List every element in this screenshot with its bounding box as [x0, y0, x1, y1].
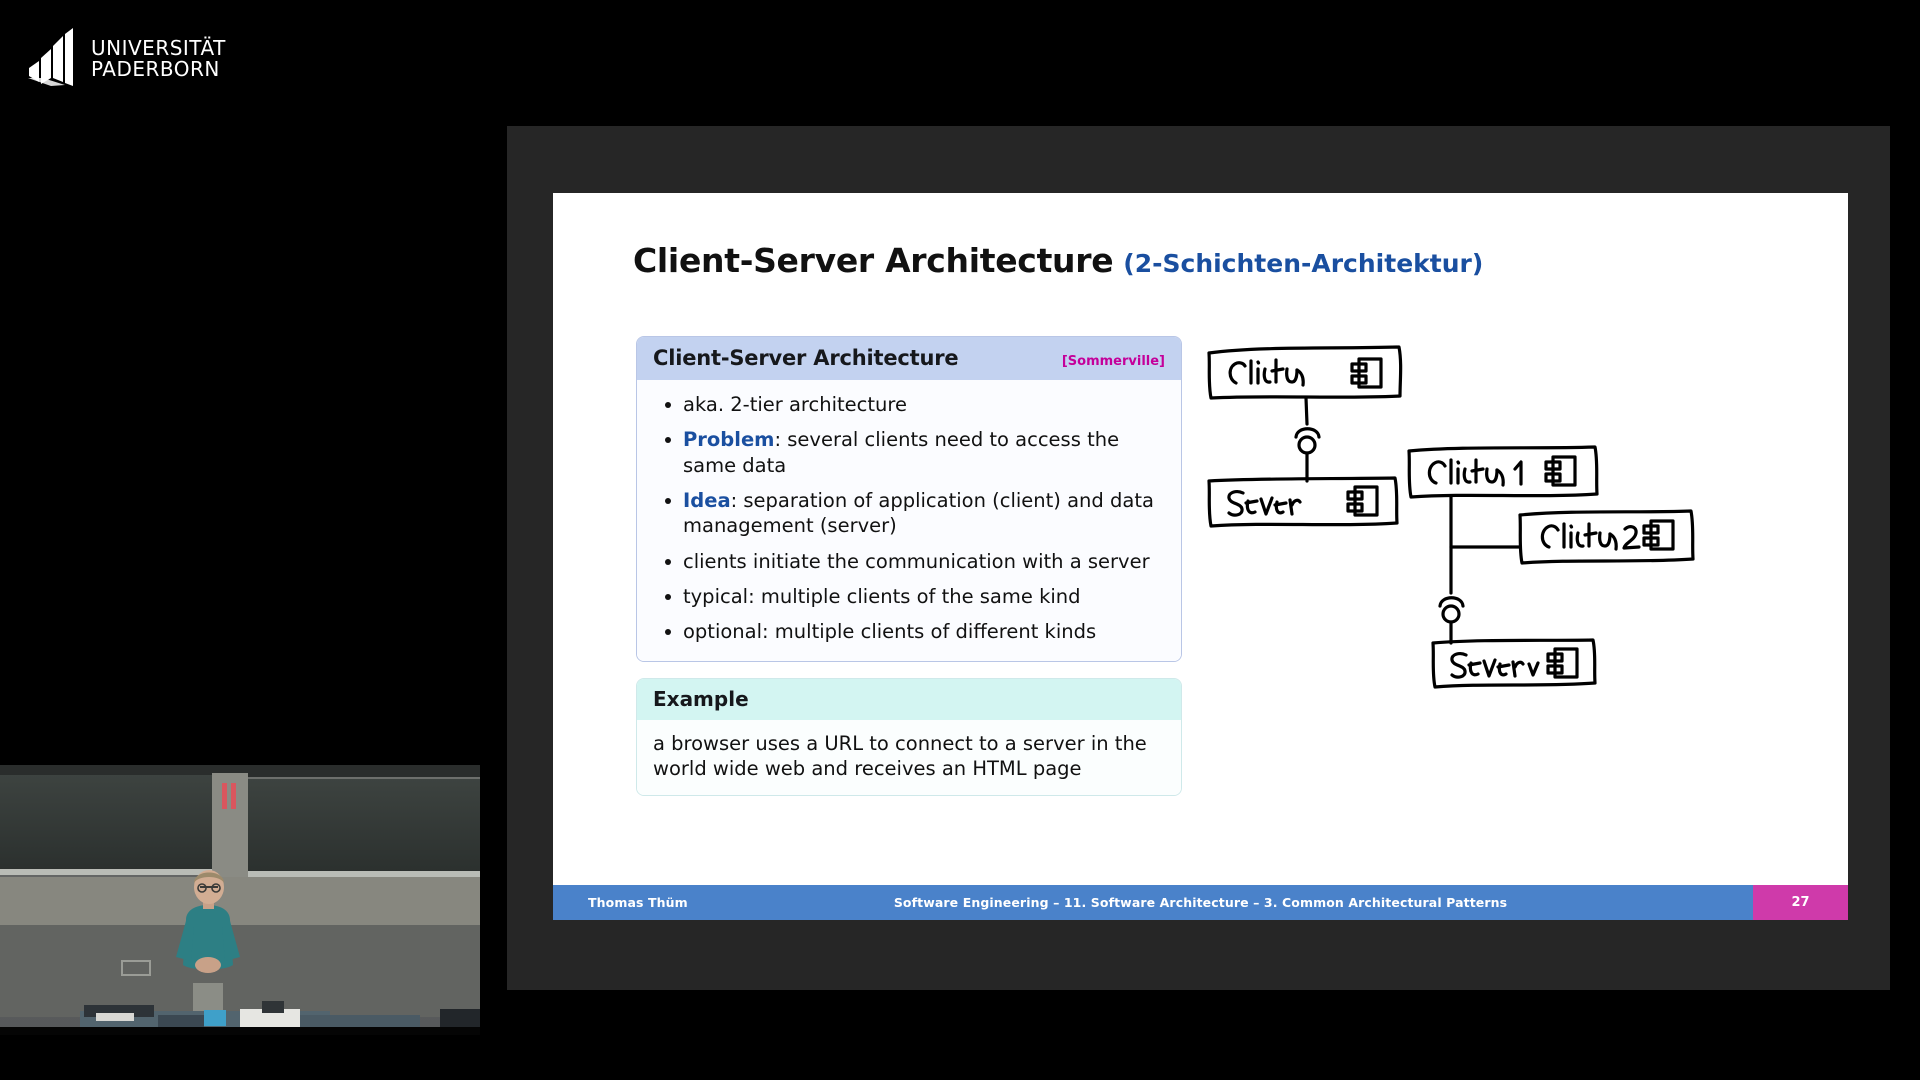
slide-left-column: Client-Server Architecture [Sommerville]… — [636, 336, 1182, 796]
footer-page-number: 27 — [1753, 885, 1848, 920]
definition-bullet-list: aka. 2-tier architecture Problem: severa… — [653, 392, 1165, 645]
list-item: Idea: separation of application (client)… — [653, 488, 1165, 539]
example-block: Example a browser uses a URL to connect … — [636, 678, 1182, 797]
university-logo-text: UNIVERSITÄT PADERBORN — [91, 38, 226, 80]
university-logo: UNIVERSITÄT PADERBORN — [25, 28, 226, 90]
definition-block-title: Client-Server Architecture — [653, 346, 958, 370]
logo-line-2: PADERBORN — [91, 59, 226, 80]
bullet-text: typical: multiple clients of the same ki… — [683, 585, 1081, 608]
bullet-keyword: Problem — [683, 428, 775, 451]
bullet-keyword: Idea — [683, 489, 731, 512]
lecture-hall-scene — [0, 765, 480, 1035]
definition-block-header: Client-Server Architecture [Sommerville] — [637, 337, 1181, 380]
logo-line-1: UNIVERSITÄT — [91, 38, 226, 59]
diagram-two-tier-multiple-clients — [1403, 443, 1703, 693]
paderborn-building-logo-icon — [25, 28, 77, 90]
definition-block: Client-Server Architecture [Sommerville]… — [636, 336, 1182, 662]
bullet-text: aka. 2-tier architecture — [683, 393, 907, 416]
citation-label: [Sommerville] — [1062, 354, 1165, 369]
presenter-video[interactable] — [0, 765, 480, 1035]
slide-diagrams — [1203, 313, 1803, 783]
diagram-two-tier-single-client — [1203, 333, 1423, 563]
example-block-header: Example — [637, 679, 1181, 720]
list-item: optional: multiple clients of different … — [653, 619, 1165, 644]
presentation-slide: Client-Server Architecture(2-Schichten-A… — [553, 193, 1848, 920]
list-item: clients initiate the communication with … — [653, 549, 1165, 574]
slide-title-main: Client-Server Architecture — [633, 241, 1113, 280]
screen-root: UNIVERSITÄT PADERBORN Client-Server Arch… — [0, 0, 1920, 1080]
slide-title-subtitle: (2-Schichten-Architektur) — [1123, 249, 1483, 278]
list-item: typical: multiple clients of the same ki… — [653, 584, 1165, 609]
footer-course-title: Software Engineering – 11. Software Arch… — [553, 895, 1848, 910]
bullet-text: : separation of application (client) and… — [683, 489, 1154, 537]
bullet-text: clients initiate the communication with … — [683, 550, 1150, 573]
slide-footer: Thomas Thüm Software Engineering – 11. S… — [553, 885, 1848, 920]
example-block-body: a browser uses a URL to connect to a ser… — [637, 720, 1181, 796]
bullet-text: optional: multiple clients of different … — [683, 620, 1096, 643]
page-title: Client-Server Architecture(2-Schichten-A… — [633, 241, 1483, 280]
example-block-title: Example — [653, 687, 749, 711]
list-item: aka. 2-tier architecture — [653, 392, 1165, 417]
definition-block-body: aka. 2-tier architecture Problem: severa… — [637, 380, 1181, 661]
list-item: Problem: several clients need to access … — [653, 427, 1165, 478]
